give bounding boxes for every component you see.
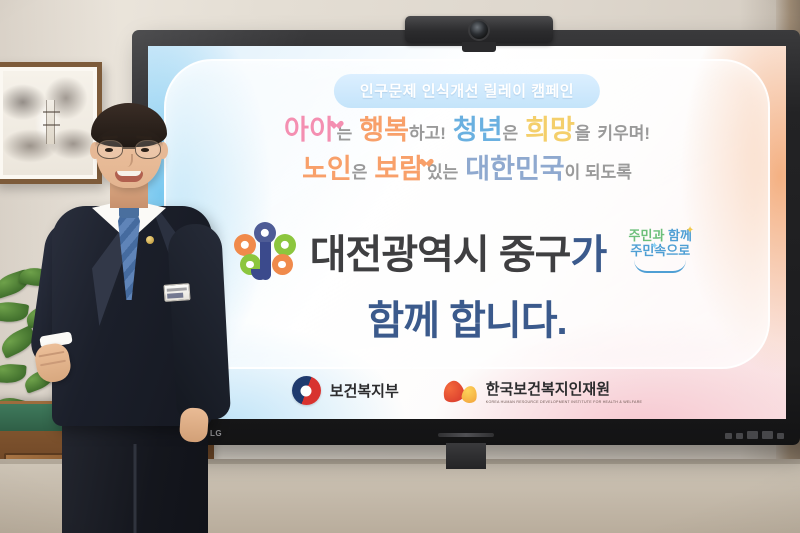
logo-ring-orange-left: [234, 234, 256, 256]
junggu-slogan: ✦ ✦ 주민과 함께 주민속으로: [620, 229, 700, 273]
slide-footer-logos: 보건복지부 한국보건복지인재원 KOREA HUMAN RESOURCE DEV…: [148, 376, 786, 405]
camera-mount: [462, 42, 496, 52]
sparkle-icon: ✦: [686, 225, 694, 237]
brand-name-tail: 가: [570, 233, 606, 277]
brand-name: 대전광역시 중구가: [310, 222, 607, 280]
logo-ring-blue-top: [254, 222, 276, 244]
campaign-badge: 인구문제 인식개선 릴레이 캠페인: [334, 74, 600, 108]
video-conference-camera-bar: [405, 16, 553, 43]
institute-sub-label: KOREA HUMAN RESOURCE DEVELOPMENT INSTITU…: [486, 400, 642, 404]
logo-ring-orange-bottom-right: [272, 254, 293, 275]
heart-icon: [330, 121, 339, 130]
headline-line-2: 노인은 보람있는 대한민국이 되도록: [148, 153, 786, 187]
headline-word-hope: 희망: [525, 115, 575, 145]
headline-particle-7: 이 되도록: [565, 163, 632, 182]
campaign-slide: 인구문제 인식개선 릴레이 캠페인 아이는 행복하고! 청년은 희망을 키우며!…: [148, 46, 786, 419]
ministry-logo-unit: 보건복지부: [292, 376, 399, 405]
right-hand: [179, 407, 209, 443]
slogan-line-2: 주민속으로: [620, 244, 700, 259]
brand-tagline: 함께 합니다.: [367, 299, 566, 343]
camera-lens-icon: [468, 19, 490, 41]
headline-particle-6: 있는: [427, 163, 458, 182]
headline-word-child: 아이: [284, 115, 334, 145]
brand-name-main: 대전광역시 중구: [310, 233, 571, 277]
official-in-dark-suit: [22, 108, 232, 533]
right-arm: [167, 223, 231, 422]
institute-label: 한국보건복지인재원: [486, 378, 642, 399]
campaign-headline: 아이는 행복하고! 청년은 희망을 키우며! 노인은 보람있는 대한민국이 되도…: [148, 114, 786, 187]
lapel-pin-icon: [146, 236, 154, 244]
daejeon-junggu-ci-logo: [234, 222, 296, 280]
headline-word-happy: 행복: [359, 115, 409, 145]
eye-right: [141, 148, 149, 152]
institute-text-block: 한국보건복지인재원 KOREA HUMAN RESOURCE DEVELOPME…: [486, 378, 642, 404]
headline-word-elderly: 노인: [302, 154, 352, 184]
kohi-flame-mark-icon: [443, 377, 477, 404]
sparkle-icon: ✦: [650, 241, 658, 253]
eye-left: [105, 148, 113, 152]
ministry-label: 보건복지부: [330, 380, 399, 401]
display-port-panel: [725, 431, 784, 439]
heart-icon: [420, 159, 429, 168]
mouth-smiling: [115, 171, 143, 182]
smile-curve-icon: [634, 260, 686, 273]
headline-word-korea: 대한민국: [465, 154, 564, 184]
logo-ring-green-right: [274, 234, 296, 256]
logo-j-stem: [260, 242, 271, 280]
display-stand-neck: [446, 443, 486, 469]
slogan-line-1a: 주민과: [629, 228, 669, 243]
taegeuk-government-emblem-icon: [292, 376, 321, 405]
name-badge: [163, 283, 190, 302]
headline-word-worthwhile: 보람: [374, 154, 424, 184]
headline-particle-4: 을: [575, 124, 591, 143]
headline-particle-2: 하고!: [409, 124, 446, 143]
headline-line-1: 아이는 행복하고! 청년은 희망을 키우며!: [148, 114, 786, 148]
brand-line: 대전광역시 중구가 ✦ ✦ 주민과 함께 주민속으로: [148, 222, 786, 280]
institute-logo-unit: 한국보건복지인재원 KOREA HUMAN RESOURCE DEVELOPME…: [443, 377, 642, 404]
headline-verb-grow: 키우며!: [597, 124, 650, 143]
brand-line-2: 함께 합니다.: [148, 288, 786, 346]
photo-scene: 인구문제 인식개선 릴레이 캠페인 아이는 행복하고! 청년은 희망을 키우며!…: [0, 0, 800, 533]
headline-word-youth: 청년: [453, 115, 503, 145]
lg-interactive-display[interactable]: 인구문제 인식개선 릴레이 캠페인 아이는 행복하고! 청년은 희망을 키우며!…: [132, 30, 800, 445]
headline-particle-5: 은: [352, 163, 368, 182]
ir-sensor-strip: [438, 433, 494, 437]
glasses-bridge: [123, 147, 135, 149]
headline-particle-3: 은: [503, 124, 519, 143]
